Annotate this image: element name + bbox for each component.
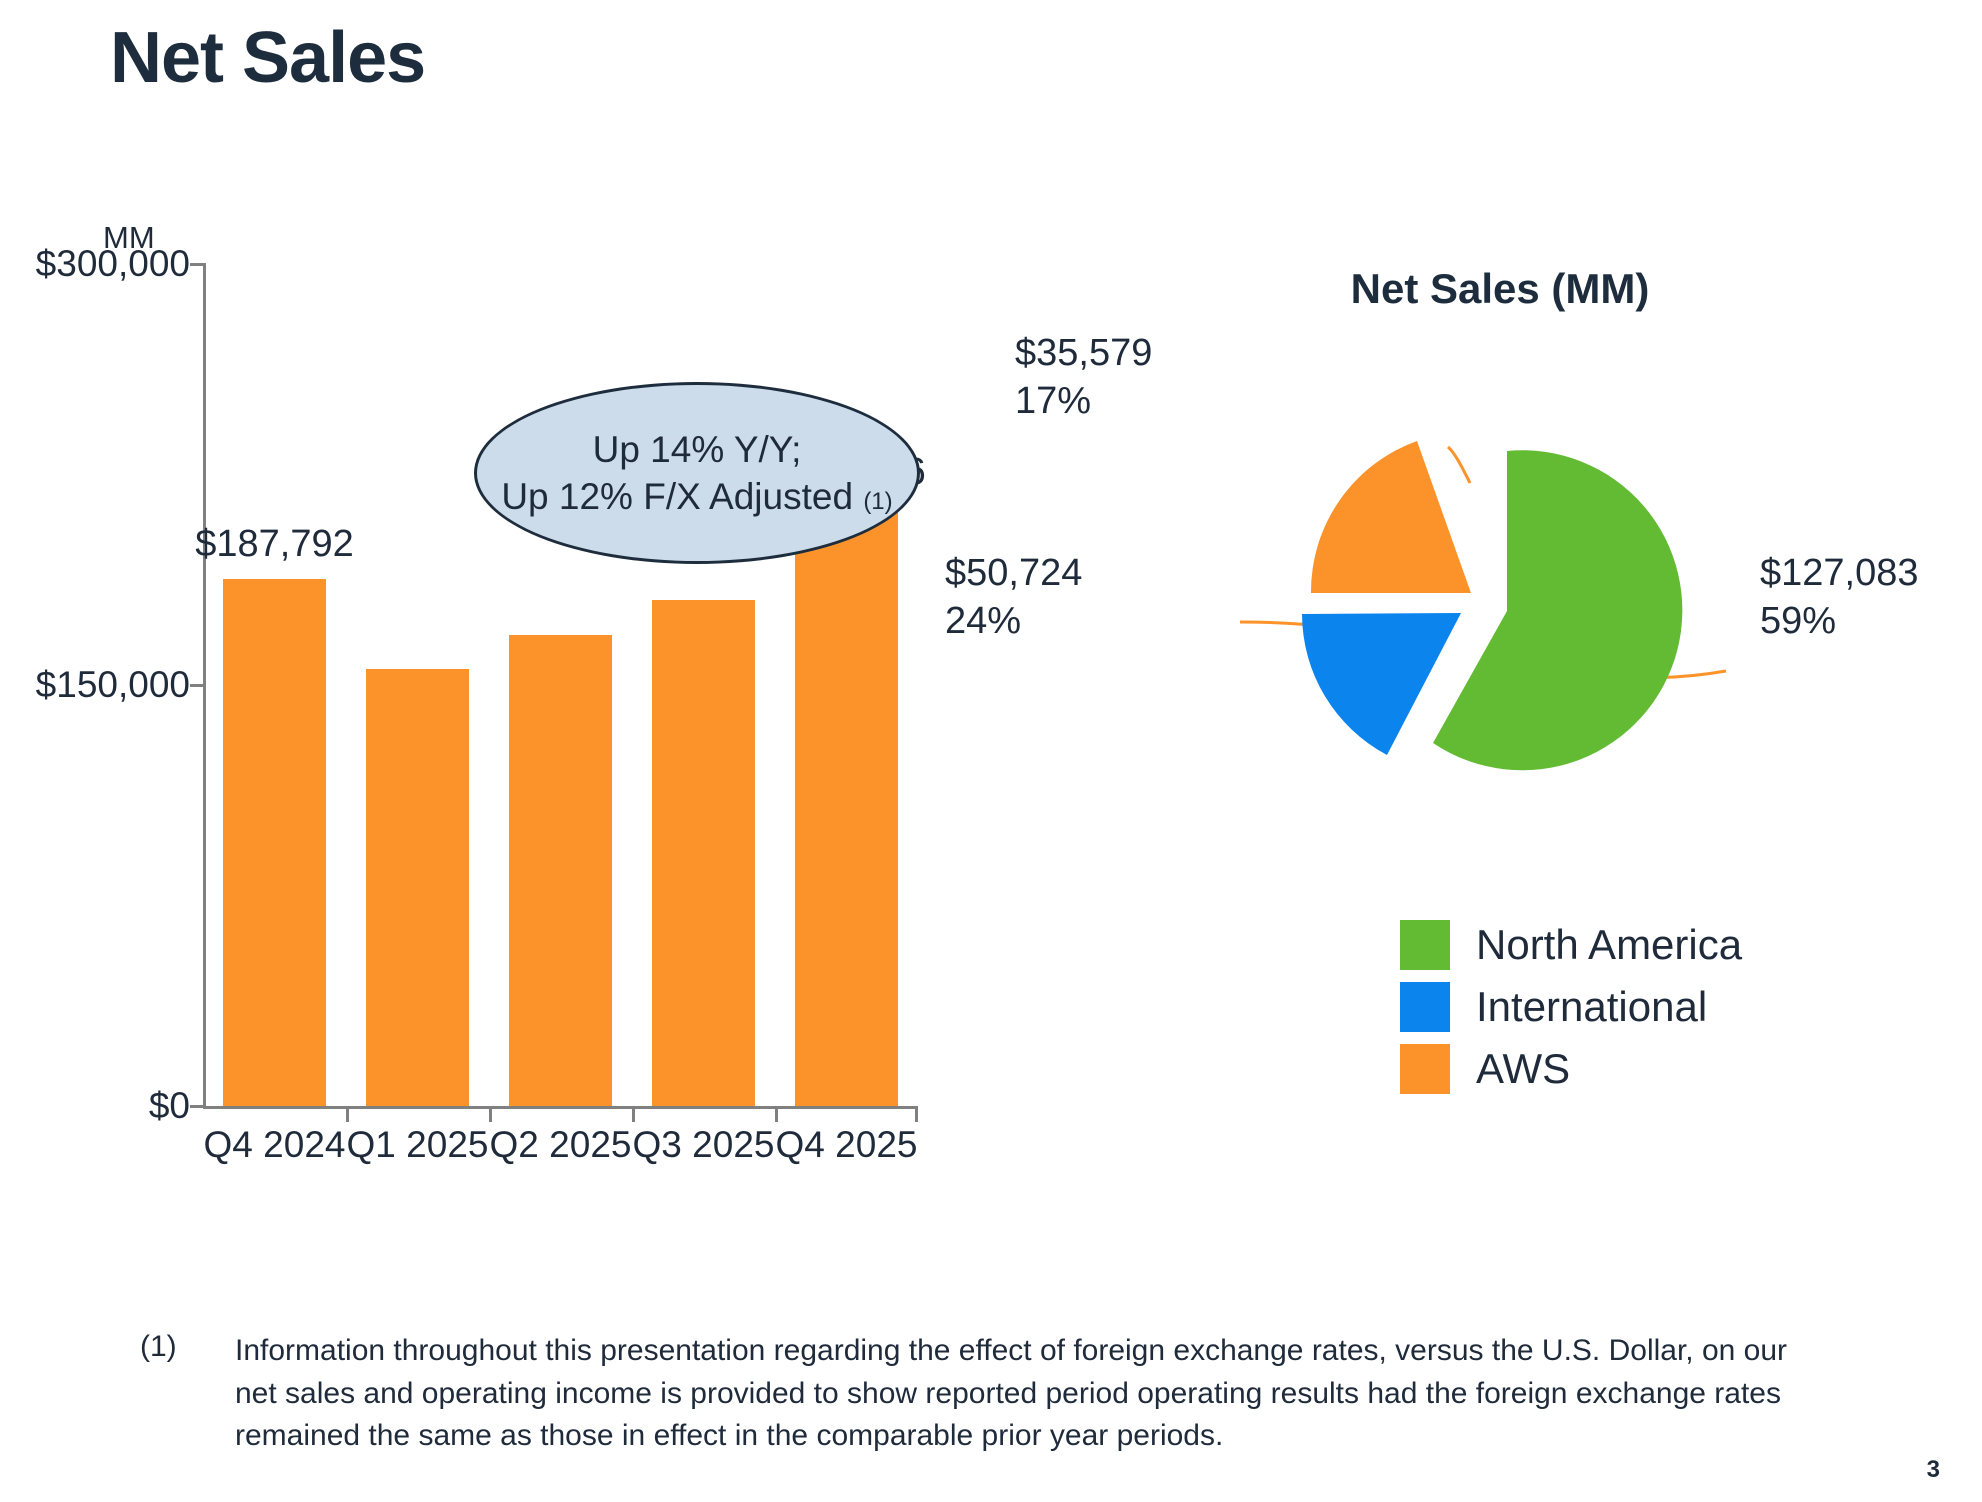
- page-title: Net Sales: [110, 22, 425, 94]
- y-axis-tick-label: $150,000: [36, 664, 190, 706]
- y-axis-tick-mark: [190, 684, 206, 687]
- bar: [509, 635, 612, 1106]
- bar: [366, 669, 469, 1106]
- y-axis-tick-mark: [190, 1105, 206, 1108]
- legend-item[interactable]: International: [1400, 982, 1742, 1032]
- pie-chart-title: Net Sales (MM): [1150, 265, 1850, 313]
- y-axis-tick-label: $300,000: [36, 243, 190, 285]
- x-axis-line: [203, 1106, 918, 1109]
- callout-line-2: Up 12% F/X Adjusted (1): [501, 473, 892, 520]
- x-axis-category-label: Q2 2025: [490, 1124, 632, 1166]
- x-axis-category-label: Q4 2024: [204, 1124, 346, 1166]
- x-axis-category-label: Q3 2025: [633, 1124, 775, 1166]
- x-axis-tick-mark: [489, 1106, 492, 1122]
- pie-label-aws-value: $35,579: [1015, 330, 1152, 378]
- leader-line-aws: [1448, 447, 1470, 483]
- x-axis-category-label: Q4 2025: [776, 1124, 918, 1166]
- x-axis-tick-mark: [915, 1106, 918, 1122]
- pie-chart-section: Net Sales (MM) $35,579 17% $50,724 24% $…: [1150, 280, 1982, 1160]
- pie-label-north-america-value: $127,083: [1760, 550, 1919, 598]
- pie-slice-north-america: [1433, 450, 1682, 770]
- x-axis-category-label: Q1 2025: [347, 1124, 489, 1166]
- bar-chart: MM $0$150,000$300,000 $187,792$213,386 Q…: [0, 240, 1000, 1180]
- footnote: (1) Information throughout this presenta…: [140, 1330, 1840, 1458]
- slide-canvas: Net Sales MM $0$150,000$300,000 $187,792…: [0, 0, 1982, 1502]
- pie-slice-aws: [1311, 441, 1471, 593]
- legend-item[interactable]: AWS: [1400, 1044, 1742, 1094]
- x-axis-tick-mark: [775, 1106, 778, 1122]
- pie-slice-international: [1302, 613, 1461, 755]
- legend-item-label: AWS: [1476, 1048, 1570, 1090]
- callout-ellipse: Up 14% Y/Y; Up 12% F/X Adjusted (1): [474, 382, 920, 564]
- pie-label-international-percent: 24%: [945, 598, 1082, 646]
- callout-line-1: Up 14% Y/Y;: [593, 426, 802, 473]
- page-number: 3: [1927, 1456, 1940, 1484]
- callout-footnote-ref: (1): [863, 488, 892, 515]
- callout-line-2-text: Up 12% F/X Adjusted: [501, 476, 853, 517]
- legend-swatch-icon: [1400, 1044, 1450, 1094]
- pie-label-north-america-percent: 59%: [1760, 598, 1919, 646]
- legend-item-label: International: [1476, 986, 1707, 1028]
- pie-label-international: $50,724 24%: [945, 550, 1082, 645]
- bar-chart-y-axis: $0$150,000$300,000: [0, 240, 190, 1180]
- legend-swatch-icon: [1400, 982, 1450, 1032]
- pie-label-aws-percent: 17%: [1015, 378, 1152, 426]
- y-axis-tick-mark: [190, 263, 206, 266]
- footnote-text: Information throughout this presentation…: [235, 1330, 1815, 1458]
- bar-data-label: $187,792: [195, 523, 354, 566]
- bar: [795, 507, 898, 1106]
- bar: [652, 600, 755, 1106]
- legend-item-label: North America: [1476, 924, 1742, 966]
- pie-label-north-america: $127,083 59%: [1760, 550, 1919, 645]
- bar: [223, 579, 326, 1106]
- pie-chart-svg: [1130, 375, 1830, 855]
- legend-item[interactable]: North America: [1400, 920, 1742, 970]
- x-axis-tick-mark: [346, 1106, 349, 1122]
- x-axis-tick-mark: [632, 1106, 635, 1122]
- pie-chart-legend: North AmericaInternationalAWS: [1400, 920, 1742, 1106]
- y-axis-tick-label: $0: [149, 1085, 190, 1127]
- legend-swatch-icon: [1400, 920, 1450, 970]
- pie-label-international-value: $50,724: [945, 550, 1082, 598]
- pie-label-aws: $35,579 17%: [1015, 330, 1152, 425]
- footnote-marker: (1): [140, 1330, 235, 1458]
